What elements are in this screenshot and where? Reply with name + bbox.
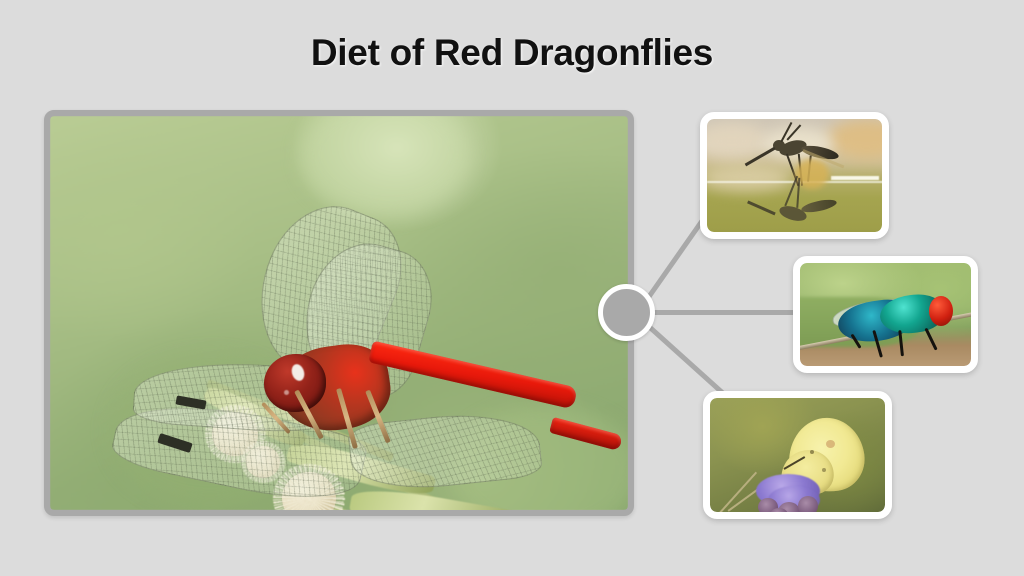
water-reflection-glow [795,159,829,189]
mosquito-photo [707,119,882,232]
butterfly-wing-spot [822,468,826,472]
prey-thumbnail-blow-fly[interactable] [793,256,978,373]
dragonfly-eye-speck [284,390,289,395]
prey-thumbnail-mosquito[interactable] [700,112,889,239]
connector-line-blow-fly [640,310,800,315]
water-glint [831,176,879,180]
blow-fly-eye [929,296,953,326]
flower-bud [798,496,818,512]
butterfly-wing-spot [826,440,835,448]
main-photo-frame[interactable] [44,110,634,516]
hub-node[interactable] [598,284,655,341]
sulphur-butterfly-photo [710,398,885,512]
dragonfly-head [264,354,326,412]
prey-thumbnail-butterfly[interactable] [703,391,892,519]
butterfly-wing-spot [810,450,814,454]
red-dragonfly-photo [50,116,628,510]
infographic-canvas: Diet of Red Dragonflies [0,0,1024,576]
blow-fly-photo [800,263,971,366]
page-title: Diet of Red Dragonflies [0,32,1024,74]
